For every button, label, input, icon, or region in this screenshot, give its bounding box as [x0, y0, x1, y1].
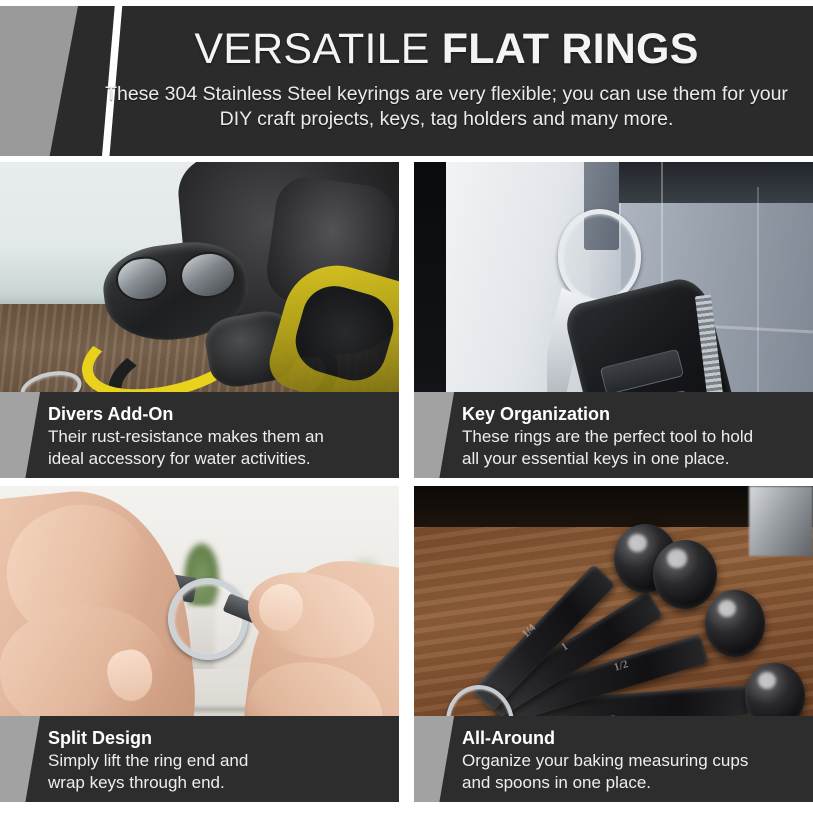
page-title-light: VERSATILE: [194, 25, 429, 73]
caption-title: Key Organization: [462, 403, 805, 426]
caption-body-line2: all your essential keys in one place.: [462, 448, 805, 470]
caption-body-line2: ideal accessory for water activities.: [48, 448, 391, 470]
caption-all-around: All-Around Organize your baking measurin…: [414, 716, 813, 802]
photo-keyring: [558, 209, 642, 304]
caption-split-design: Split Design Simply lift the ring end an…: [0, 716, 399, 802]
caption-body-line1: Simply lift the ring end and: [48, 750, 391, 772]
caption-body-line1: These rings are the perfect tool to hold: [462, 426, 805, 448]
photo-spoon-bowl: [653, 540, 717, 610]
header-banner: VERSATILE FLAT RINGS These 304 Stainless…: [0, 6, 813, 156]
caption-body-line2: wrap keys through end.: [48, 772, 391, 794]
feature-card-key-organization[interactable]: Key Organization These rings are the per…: [414, 162, 813, 478]
photo-spoon-bowl: [705, 590, 765, 656]
caption-title: Divers Add-On: [48, 403, 391, 426]
feature-card-all-around[interactable]: 1/4 1 1/2 1/8 All-Around Organize your b…: [414, 486, 813, 802]
caption-title: All-Around: [462, 727, 805, 750]
caption-body-line1: Organize your baking measuring cups: [462, 750, 805, 772]
caption-text: Split Design Simply lift the ring end an…: [48, 716, 399, 802]
photo-metal-object: [749, 486, 813, 556]
caption-text: Divers Add-On Their rust-resistance make…: [48, 392, 399, 478]
page-title-bold: FLAT RINGS: [442, 25, 699, 73]
caption-key-organization: Key Organization These rings are the per…: [414, 392, 813, 478]
caption-body-line2: and spoons in one place.: [462, 772, 805, 794]
page-title: VERSATILE FLAT RINGS: [194, 28, 698, 72]
feature-card-split-design[interactable]: Split Design Simply lift the ring end an…: [0, 486, 399, 802]
feature-card-divers-add-on[interactable]: Divers Add-On Their rust-resistance make…: [0, 162, 399, 478]
feature-grid: Divers Add-On Their rust-resistance make…: [0, 162, 813, 807]
caption-text: Key Organization These rings are the per…: [462, 392, 813, 478]
page-subtitle: These 304 Stainless Steel keyrings are v…: [97, 82, 797, 133]
page-subtitle-line1: These 304 Stainless Steel keyrings are v…: [105, 83, 716, 105]
caption-text: All-Around Organize your baking measurin…: [462, 716, 813, 802]
infographic-page: VERSATILE FLAT RINGS These 304 Stainless…: [0, 0, 813, 813]
caption-title: Split Design: [48, 727, 391, 750]
caption-body-line1: Their rust-resistance makes them an: [48, 426, 391, 448]
header-content: VERSATILE FLAT RINGS These 304 Stainless…: [90, 6, 813, 156]
caption-divers-add-on: Divers Add-On Their rust-resistance make…: [0, 392, 399, 478]
photo-waistband: [606, 162, 813, 203]
